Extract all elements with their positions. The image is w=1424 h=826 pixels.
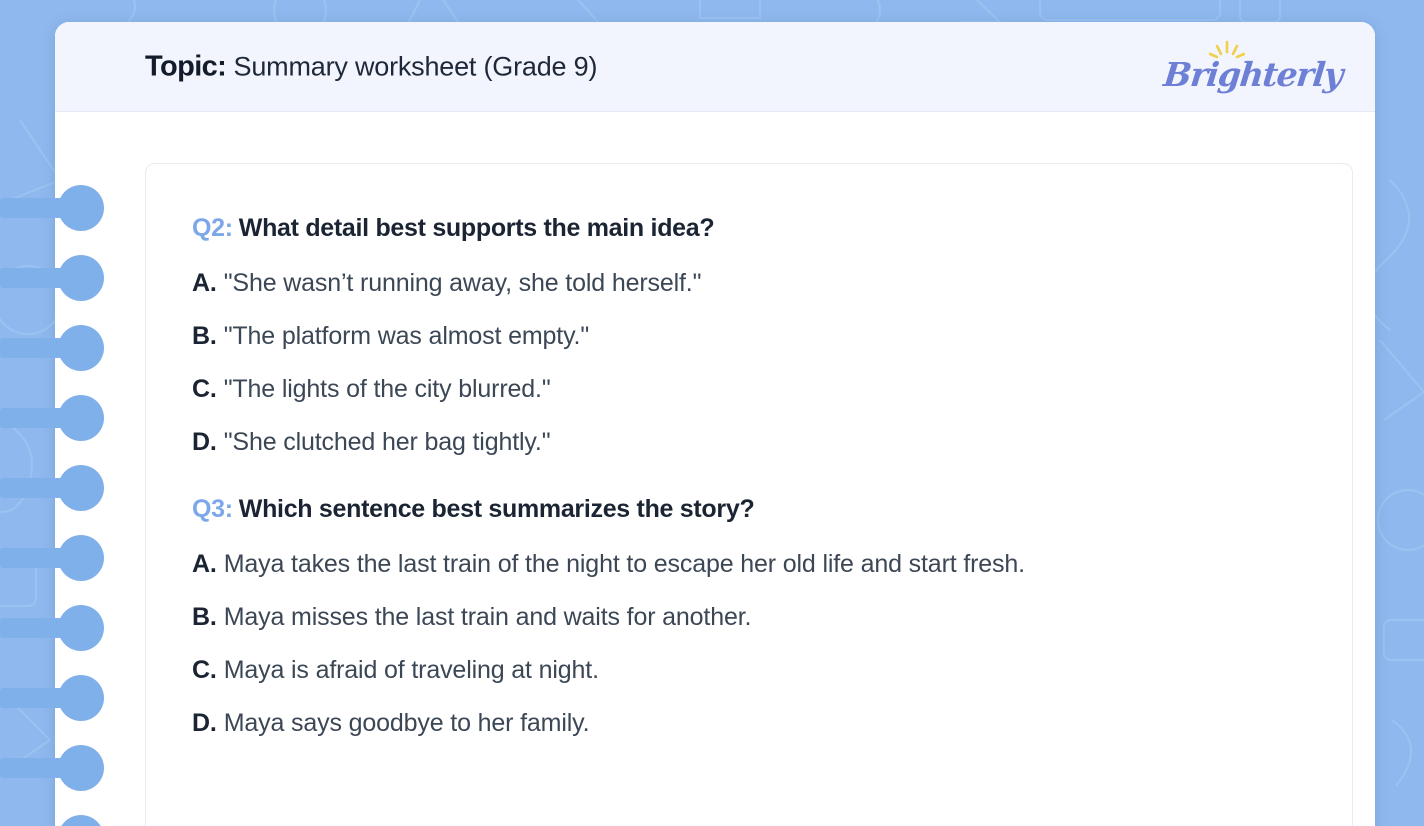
worksheet-header: Topic: Summary worksheet (Grade 9) Brigh… [55, 22, 1375, 112]
option-letter: B. [192, 603, 217, 631]
topic-label: Topic: [145, 50, 226, 82]
option-text: "She clutched her bag tightly." [224, 428, 551, 456]
option-row[interactable]: A.Maya takes the last train of the night… [192, 550, 1306, 579]
question-block-q2: Q2:What detail best supports the main id… [192, 214, 1306, 457]
option-text: "The lights of the city blurred." [224, 375, 551, 403]
question-prompt-q2: What detail best supports the main idea? [239, 214, 715, 242]
topic-line: Topic: Summary worksheet (Grade 9) [145, 50, 597, 83]
option-row[interactable]: A."She wasn’t running away, she told her… [192, 269, 1306, 298]
option-letter: B. [192, 322, 217, 350]
option-row[interactable]: D."She clutched her bag tightly." [192, 428, 1306, 457]
question-block-q3: Q3:Which sentence best summarizes the st… [192, 495, 1306, 738]
question-heading-q3: Q3:Which sentence best summarizes the st… [192, 495, 1306, 524]
option-text: Maya is afraid of traveling at night. [224, 656, 599, 684]
option-text: Maya misses the last train and waits for… [224, 603, 752, 631]
option-letter: C. [192, 656, 217, 684]
option-letter: D. [192, 709, 217, 737]
option-letter: A. [192, 550, 217, 578]
option-letter: C. [192, 375, 217, 403]
option-text: Maya takes the last train of the night t… [224, 550, 1025, 578]
option-text: "She wasn’t running away, she told herse… [224, 269, 702, 297]
option-text: "The platform was almost empty." [224, 322, 589, 350]
question-number-q3: Q3: [192, 495, 233, 523]
option-row[interactable]: C."The lights of the city blurred." [192, 375, 1306, 404]
option-row[interactable]: B.Maya misses the last train and waits f… [192, 603, 1306, 632]
option-letter: D. [192, 428, 217, 456]
question-panel: Q2:What detail best supports the main id… [145, 163, 1353, 826]
question-number-q2: Q2: [192, 214, 233, 242]
question-heading-q2: Q2:What detail best supports the main id… [192, 214, 1306, 243]
worksheet-card: Topic: Summary worksheet (Grade 9) Brigh… [55, 22, 1375, 826]
worksheet-page: Topic: Summary worksheet (Grade 9) Brigh… [0, 0, 1424, 826]
question-prompt-q3: Which sentence best summarizes the story… [239, 495, 755, 523]
topic-value: Summary worksheet (Grade 9) [234, 51, 598, 81]
option-row[interactable]: B."The platform was almost empty." [192, 322, 1306, 351]
brighterly-logo: Brighterly [1153, 38, 1353, 96]
option-row[interactable]: C.Maya is afraid of traveling at night. [192, 656, 1306, 685]
option-row[interactable]: D.Maya says goodbye to her family. [192, 709, 1306, 738]
option-text: Maya says goodbye to her family. [224, 709, 590, 737]
option-letter: A. [192, 269, 217, 297]
brand-wordmark: Brighterly [1151, 55, 1355, 94]
